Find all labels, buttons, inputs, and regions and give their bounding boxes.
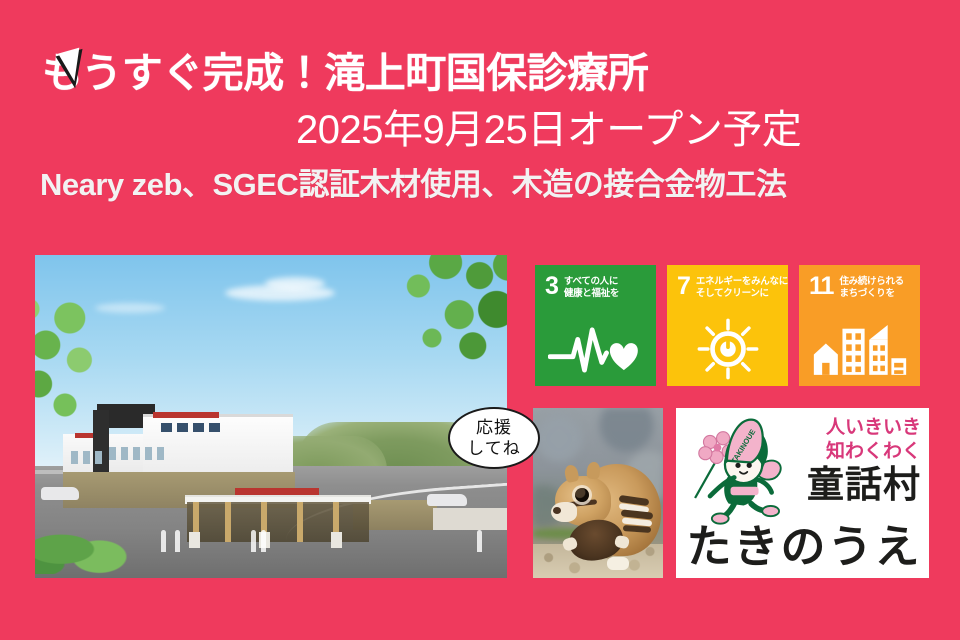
entrance-red-roof: [235, 488, 319, 495]
page-title: もうすぐ完成！滝上町国保診療所: [42, 46, 648, 100]
parked-car: [41, 487, 79, 500]
speech-bubble-text: 応援 してね: [467, 417, 521, 459]
person-silhouette: [161, 530, 166, 552]
sdg-badge-header: 7 エネルギーをみんなに そしてクリーンに: [667, 265, 788, 300]
sun-power-icon: [667, 318, 788, 380]
window: [95, 451, 102, 464]
sdg-badge-7[interactable]: 7 エネルギーをみんなに そしてクリーンに: [667, 265, 788, 386]
sdg-badge-row: 3 すべての人に 健康と福祉を 7 エネルギーをみんなに そしてクリーンに: [535, 265, 920, 386]
sdg-label: エネルギーをみんなに そしてクリーンに: [696, 275, 788, 300]
person-silhouette: [477, 530, 482, 552]
parked-car: [427, 494, 467, 506]
chipmunk-photo: [533, 408, 663, 578]
canopy-pillar: [189, 532, 200, 548]
town-logo-main-text: 童話村: [781, 466, 921, 504]
clinic-render-photo: [35, 255, 507, 578]
window: [193, 423, 204, 432]
sdg-number: 11: [809, 275, 833, 297]
sdg-label: 住み続けられる まちづくりを: [839, 275, 903, 300]
chipmunk-nose: [553, 507, 561, 514]
foreground-bush: [35, 512, 145, 574]
town-logo-tagline: 人いきいき 知わくわく: [777, 416, 921, 464]
sdg-label: すべての人に 健康と福祉を: [564, 275, 619, 300]
foreground-tree: [347, 255, 507, 377]
window: [177, 423, 188, 432]
headline-block: もうすぐ完成！滝上町国保診療所 2025年9月25日オープン予定 Neary z…: [0, 46, 960, 231]
window: [161, 423, 172, 432]
cityscape-icon: [799, 318, 920, 380]
window: [71, 451, 78, 464]
cloud-shape: [265, 277, 325, 290]
window-row: [109, 447, 164, 460]
window-row: [161, 423, 220, 432]
red-roof-accent: [153, 412, 219, 418]
chipmunk-eye: [575, 488, 589, 502]
sdg-badge-header: 11 住み続けられる まちづくりを: [799, 265, 920, 300]
sdg-number: 7: [677, 275, 690, 297]
heartbeat-icon: [535, 318, 656, 380]
sdg-badge-3[interactable]: 3 すべての人に 健康と福祉を: [535, 265, 656, 386]
canopy-post: [297, 502, 303, 542]
open-date-subtitle: 2025年9月25日オープン予定: [296, 104, 801, 156]
window: [145, 447, 152, 460]
window: [157, 447, 164, 460]
speech-bubble: 応援 してね: [448, 407, 540, 469]
chipmunk-foot: [607, 557, 629, 570]
features-subtitle: Neary zeb、SGEC認証木材使用、木造の接合金物工法: [40, 164, 786, 206]
foreground-tree: [35, 291, 137, 441]
town-logo-sub-text: たきのうえ: [686, 522, 922, 572]
poster-canvas: もうすぐ完成！滝上町国保診療所 2025年9月25日オープン予定 Neary z…: [0, 0, 960, 640]
chipmunk-ear: [586, 461, 601, 479]
person-silhouette: [261, 530, 266, 552]
sdg-badge-11[interactable]: 11 住み続けられる まちづくりを: [799, 265, 920, 386]
window-row: [71, 451, 102, 464]
window: [133, 447, 140, 460]
person-silhouette: [175, 530, 180, 552]
canopy-pillar: [331, 532, 342, 548]
window: [209, 423, 220, 432]
sdg-badge-header: 3 すべての人に 健康と福祉を: [535, 265, 656, 300]
town-logo[interactable]: TAKINOUE 人いきいき 知わくわく 童話村 たきのうえ: [676, 408, 929, 578]
boundary-wall: [433, 508, 507, 530]
window: [109, 447, 116, 460]
sdg-number: 3: [545, 275, 558, 297]
canopy-post: [225, 502, 231, 542]
window: [83, 451, 90, 464]
window: [121, 447, 128, 460]
person-silhouette: [251, 530, 256, 552]
